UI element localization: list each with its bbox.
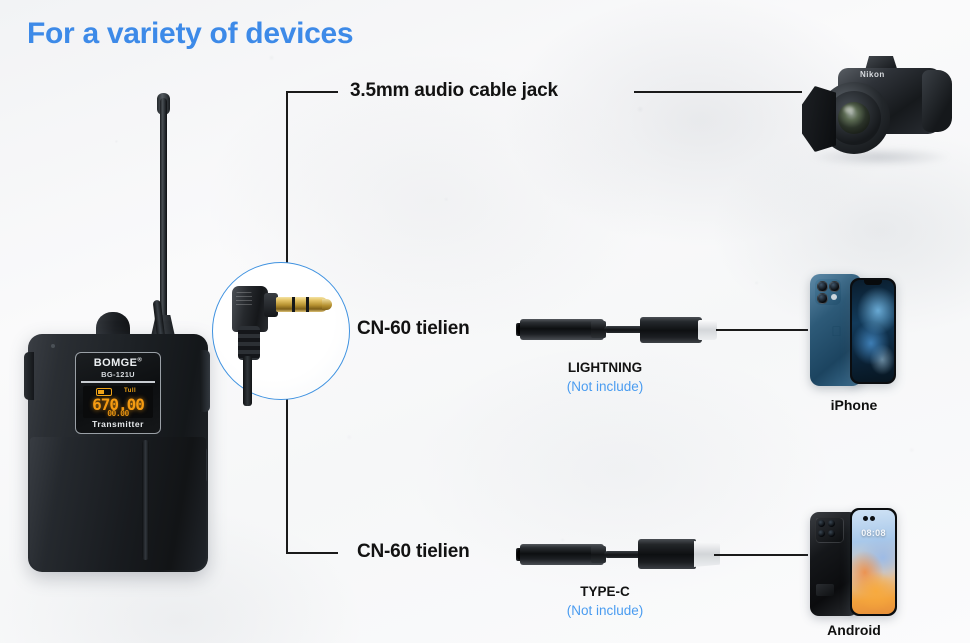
transmitter-brand-text: BOMGE — [94, 357, 138, 369]
transmitter-side-button-right[interactable] — [200, 350, 210, 412]
iphone-camera-lens-1 — [817, 281, 828, 292]
apple-logo-icon:  — [830, 324, 843, 339]
device-label-android: Android — [806, 622, 902, 638]
iphone-flash — [831, 294, 837, 300]
camera-grip — [922, 70, 952, 132]
transmitter-antenna — [160, 98, 167, 330]
iphone-device:  — [806, 272, 902, 390]
lcd-secondary: 00.00 — [83, 409, 153, 418]
callout-label-audio-jack: 3.5mm audio cable jack — [350, 80, 558, 102]
lightning-connector-tip — [698, 320, 717, 340]
android-back-accent — [816, 584, 834, 596]
adapter-note-typec: (Not include) — [545, 603, 665, 618]
bracket-stub-bottom — [286, 552, 338, 554]
signal-icon: Tull — [124, 388, 136, 394]
android-screen — [852, 510, 895, 614]
transmitter-battery-door — [30, 437, 206, 570]
jack-ring-1 — [292, 297, 295, 312]
adapter-name-lightning: LIGHTNING — [545, 360, 665, 375]
battery-level-fill — [98, 390, 104, 394]
jack-cable — [243, 356, 252, 406]
transmitter-side-button-left[interactable] — [24, 352, 34, 400]
android-device: 08:08 — [806, 508, 902, 620]
iphone-screen — [852, 280, 894, 382]
page-title: For a variety of devices — [27, 17, 353, 51]
android-camera-lens-4 — [828, 530, 835, 537]
transmitter-belt-clip — [142, 440, 149, 560]
leader-line-to-iphone — [716, 329, 808, 331]
registered-mark: ® — [137, 357, 142, 363]
jack-gold-shaft — [276, 297, 328, 312]
iphone-camera-lens-3 — [817, 293, 828, 304]
android-lockscreen-clock: 08:08 — [852, 528, 895, 538]
device-label-iphone: iPhone — [806, 397, 902, 413]
callout-label-cn60-typec: CN-60 tielien — [357, 541, 470, 563]
android-punch-hole-camera-2 — [870, 516, 875, 521]
infographic-canvas: For a variety of devices BOMGE® BG-121U … — [0, 0, 970, 643]
android-camera-lens-2 — [828, 520, 835, 527]
jack-plug-grip-ribs — [236, 292, 252, 306]
lightning-connector-body — [640, 317, 702, 343]
jack-strain-relief — [238, 326, 260, 360]
android-camera-lens-3 — [818, 530, 825, 537]
iphone-notch — [864, 280, 882, 285]
iphone-camera-lens-2 — [829, 281, 840, 292]
android-punch-hole-camera-1 — [863, 516, 868, 521]
adapter-note-lightning: (Not include) — [545, 379, 665, 394]
camera-brand-text: Nikon — [860, 70, 885, 79]
camera-lens-glass — [838, 102, 870, 134]
leader-line-to-camera — [634, 91, 802, 93]
bracket-stub-top — [286, 91, 338, 93]
faceplate-divider — [81, 381, 155, 383]
leader-line-to-android — [714, 554, 808, 556]
camera-lens-hood — [802, 86, 836, 152]
adapter-name-typec: TYPE-C — [545, 584, 665, 599]
camera-shadow — [810, 148, 950, 166]
camera-lens-highlight — [844, 106, 854, 113]
dslr-camera: Nikon — [800, 56, 970, 168]
transmitter-model: BG-121U — [75, 370, 161, 379]
android-camera-lens-1 — [818, 520, 825, 527]
jack-ring-2 — [306, 297, 309, 312]
callout-label-cn60-lightning: CN-60 tielien — [357, 318, 470, 340]
transmitter-indicator-dot — [51, 344, 55, 348]
typec-connector-body — [638, 539, 696, 569]
transmitter-brand: BOMGE® — [75, 357, 161, 369]
transmitter-role-label: Transmitter — [75, 419, 161, 429]
